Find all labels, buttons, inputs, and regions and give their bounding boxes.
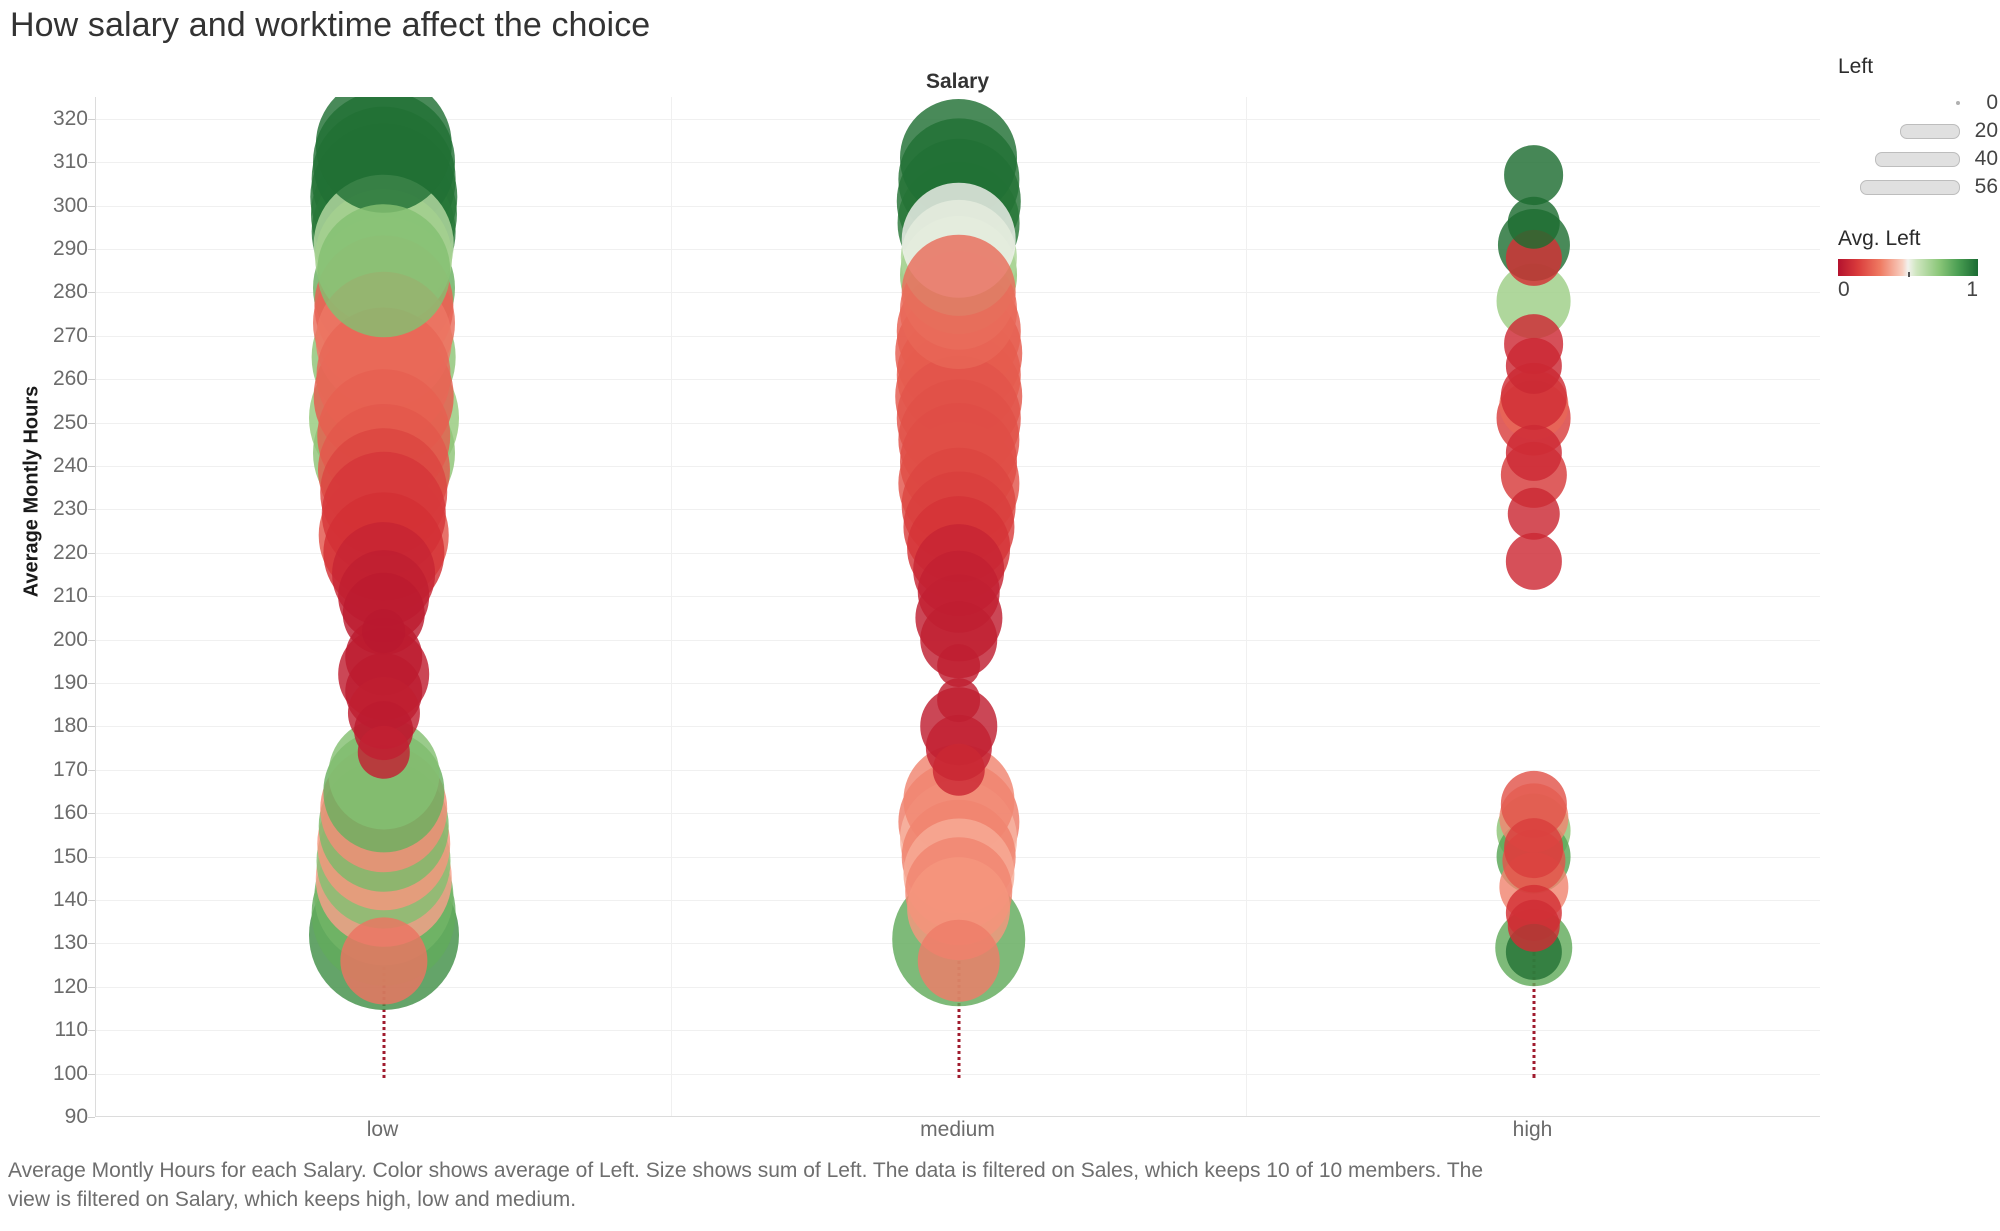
panel-divider [1246, 97, 1247, 1116]
color-legend-labels: 0 1 [1838, 278, 1978, 302]
bubble-mark[interactable] [1505, 533, 1561, 589]
bubble-mark[interactable] [1507, 487, 1559, 539]
bubble-mark[interactable] [917, 919, 1000, 1002]
y-axis-tick-mark [88, 900, 95, 901]
bubble-mark[interactable] [1504, 818, 1564, 878]
y-axis-tick-mark [88, 640, 95, 641]
size-legend-label: 0 [1966, 91, 1998, 115]
size-legend-dot [1956, 101, 1960, 105]
y-axis-tick-marks [0, 97, 95, 1117]
bubble-mark[interactable] [362, 609, 406, 653]
size-legend-label: 40 [1966, 147, 1998, 171]
size-legend[interactable]: 0204056 [1838, 89, 1998, 201]
size-legend-entry[interactable]: 0 [1838, 89, 1998, 117]
y-axis-tick-mark [88, 726, 95, 727]
y-axis-tick-mark [88, 1030, 95, 1031]
caption-text: Average Montly Hours for each Salary. Co… [8, 1156, 1488, 1214]
size-legend-title: Left [1838, 55, 1998, 79]
y-axis-tick-mark [88, 509, 95, 510]
size-legend-entry[interactable]: 20 [1838, 117, 1998, 145]
bubble-mark[interactable] [937, 678, 981, 722]
bubble-mark[interactable] [901, 235, 1016, 350]
y-axis-tick-mark [88, 770, 95, 771]
legend-panel: Left 0204056 Avg. Left 0 1 [1838, 55, 1998, 302]
x-axis-tick-high: high [1513, 1118, 1553, 1142]
size-legend-swatch [1875, 152, 1960, 167]
y-axis-tick-mark [88, 206, 95, 207]
size-legend-label: 56 [1966, 175, 1998, 199]
y-axis-tick-mark [88, 857, 95, 858]
color-legend-min: 0 [1838, 278, 1850, 302]
column-header-label: Salary [95, 68, 1820, 93]
y-axis-tick-mark [88, 1117, 95, 1118]
plot-area[interactable] [95, 97, 1820, 1117]
x-axis-tick-low: low [367, 1118, 399, 1142]
y-axis-tick-mark [88, 1074, 95, 1075]
size-legend-entry[interactable]: 40 [1838, 145, 1998, 173]
size-legend-swatch [1900, 124, 1960, 139]
x-axis-tick-labels: lowmediumhigh [95, 1118, 1820, 1158]
x-axis-tick-medium: medium [920, 1118, 995, 1142]
panel-divider [671, 97, 672, 1116]
gradient-midpoint-tick [1908, 272, 1910, 277]
y-axis-tick-mark [88, 553, 95, 554]
y-axis-tick-mark [88, 813, 95, 814]
size-legend-label: 20 [1966, 119, 1998, 143]
bubble-mark[interactable] [317, 204, 451, 338]
y-axis-tick-mark [88, 423, 95, 424]
bubble-mark[interactable] [340, 917, 427, 1004]
y-axis-tick-mark [88, 119, 95, 120]
color-gradient-bar[interactable] [1838, 259, 1978, 276]
y-axis-tick-mark [88, 596, 95, 597]
y-axis-tick-mark [88, 249, 95, 250]
y-axis-tick-mark [88, 943, 95, 944]
color-legend-max: 1 [1966, 278, 1978, 302]
size-legend-entry[interactable]: 56 [1838, 173, 1998, 201]
y-axis-tick-mark [88, 987, 95, 988]
column-header: Salary [95, 68, 1820, 98]
y-axis-tick-mark [88, 292, 95, 293]
y-axis-tick-mark [88, 336, 95, 337]
y-axis-tick-mark [88, 683, 95, 684]
y-axis-tick-mark [88, 162, 95, 163]
y-axis-tick-mark [88, 466, 95, 467]
page-title: How salary and worktime affect the choic… [10, 6, 650, 45]
y-axis-tick-mark [88, 379, 95, 380]
color-legend-title: Avg. Left [1838, 227, 1998, 251]
size-legend-swatch [1860, 180, 1960, 195]
